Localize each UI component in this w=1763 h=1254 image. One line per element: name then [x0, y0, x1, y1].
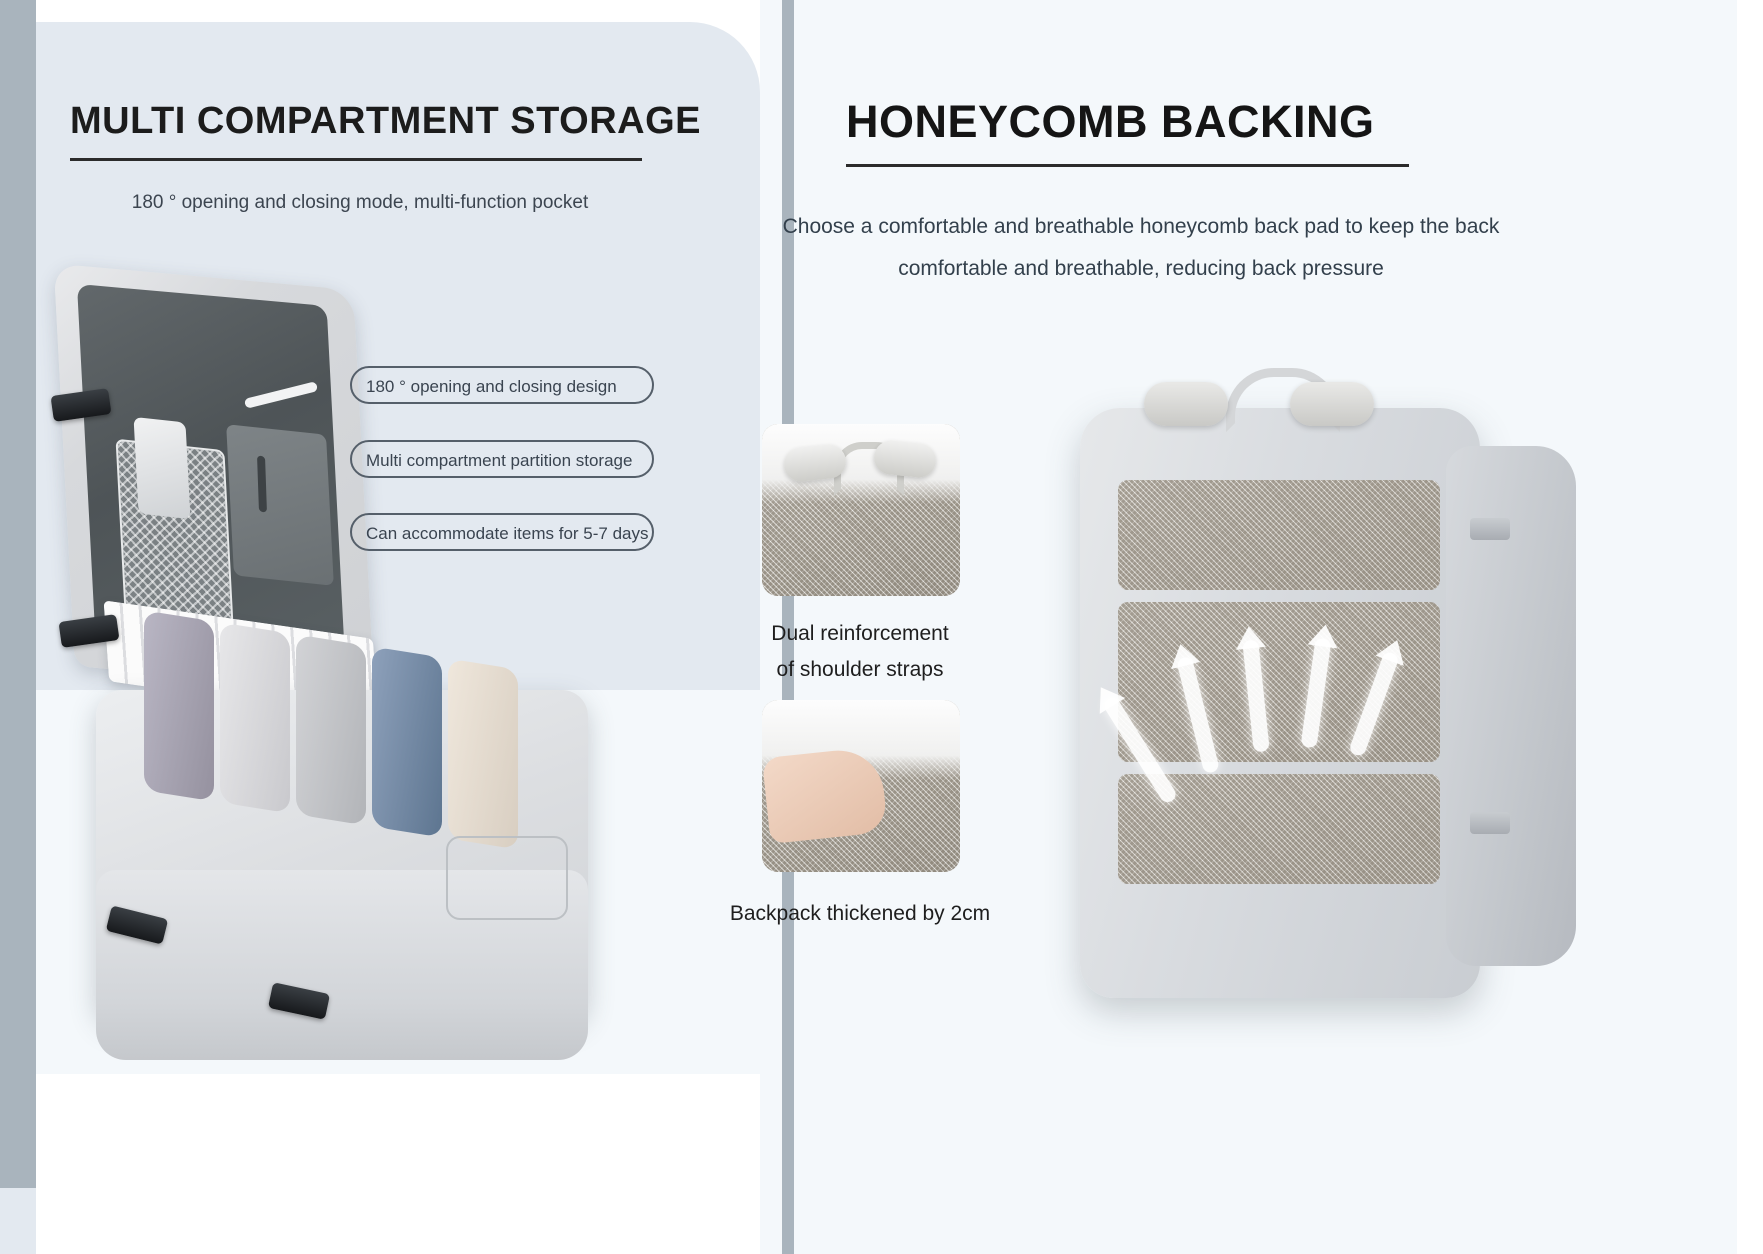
- caption-thickened-padding: Backpack thickened by 2cm: [700, 896, 1020, 932]
- shoulder-strap: [1290, 382, 1374, 426]
- feature-pill-partition-storage: Multi compartment partition storage: [350, 440, 654, 478]
- left-panel-bottom-margin: [36, 1074, 760, 1254]
- thumbnail-thickened-padding: [762, 700, 960, 872]
- right-subtitle-line-1: Choose a comfortable and breathable hone…: [746, 206, 1536, 248]
- clothing-roll: [372, 646, 442, 837]
- honeycomb-panel-middle: [1118, 602, 1440, 762]
- right-title-underline: [846, 164, 1409, 167]
- zipper-pocket: [226, 424, 334, 586]
- clothing-roll: [296, 634, 366, 825]
- right-outer-margin: [1737, 0, 1763, 1254]
- caption-line-1: Backpack thickened by 2cm: [700, 896, 1020, 932]
- left-panel-subtitle: 180 ° opening and closing mode, multi-fu…: [70, 192, 650, 214]
- caption-shoulder-straps: Dual reinforcement of shoulder straps: [700, 616, 1020, 688]
- phone-in-pocket: [134, 417, 191, 519]
- thumbnail-shoulder-straps: [762, 424, 960, 596]
- side-buckle: [1470, 518, 1510, 540]
- right-panel-subtitle: Choose a comfortable and breathable hone…: [746, 206, 1536, 290]
- clothing-roll: [144, 610, 214, 801]
- backpack-side-profile: [1446, 446, 1576, 966]
- backpack-side-pocket: [446, 836, 568, 920]
- clothing-roll: [448, 658, 518, 849]
- clothing-roll: [220, 622, 290, 813]
- honeycomb-panel-top: [1118, 480, 1440, 590]
- infographic-page: MULTI COMPARTMENT STORAGE 180 ° opening …: [0, 0, 1763, 1254]
- left-panel-title: MULTI COMPARTMENT STORAGE: [70, 100, 670, 143]
- caption-line-1: Dual reinforcement: [700, 616, 1020, 652]
- caption-line-2: of shoulder straps: [700, 652, 1020, 688]
- backpack-back-panel-image: [1040, 350, 1600, 1010]
- right-subtitle-line-2: comfortable and breathable, reducing bac…: [746, 248, 1536, 290]
- right-panel-title: HONEYCOMB BACKING: [846, 96, 1375, 148]
- left-accent-strip-lower: [0, 1188, 36, 1254]
- feature-pill-capacity-days: Can accommodate items for 5-7 days: [350, 513, 654, 551]
- side-buckle: [1470, 812, 1510, 834]
- shoulder-strap: [1144, 382, 1228, 426]
- left-title-underline: [70, 158, 642, 161]
- feature-pill-opening-design: 180 ° opening and closing design: [350, 366, 654, 404]
- left-accent-strip: [0, 0, 36, 1188]
